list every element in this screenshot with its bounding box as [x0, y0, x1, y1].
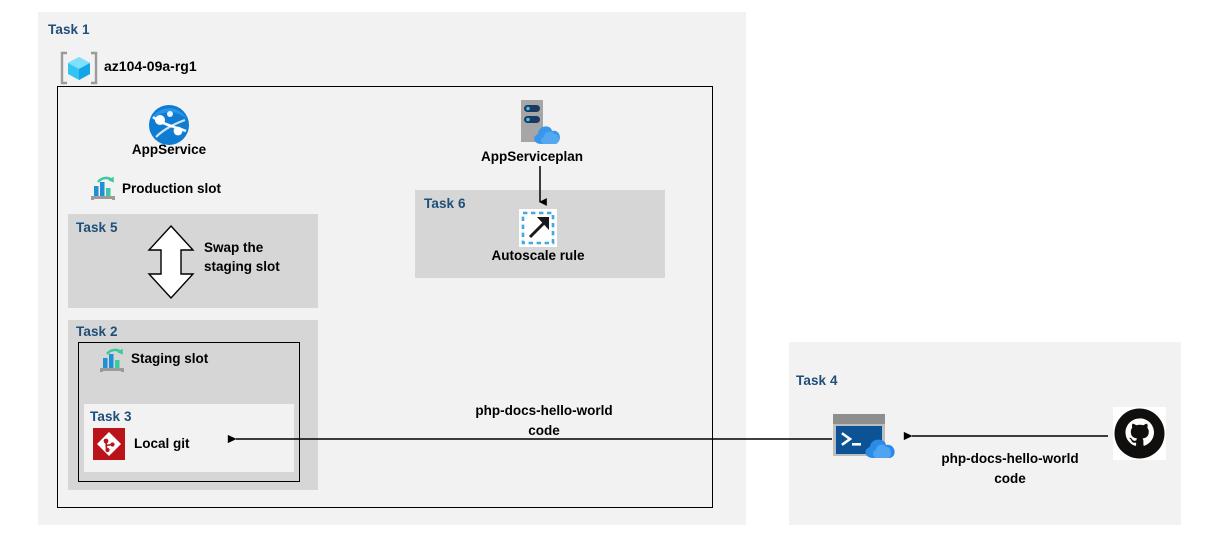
autoscale-rule-label: Autoscale rule — [466, 248, 610, 264]
git-icon — [93, 428, 125, 460]
app-service-label: AppService — [121, 142, 217, 158]
deployment-slot-icon — [98, 348, 126, 374]
local-git-label: Local git — [134, 436, 190, 452]
resource-group-name: az104-09a-rg1 — [104, 58, 197, 74]
task-5-caption: Swap the staging slot — [204, 238, 280, 276]
cloud-shell-icon — [831, 412, 901, 460]
task-3-label: Task 3 — [90, 409, 132, 424]
task-4-label: Task 4 — [796, 373, 838, 388]
connection-caption-center-line-2: code — [528, 423, 560, 438]
connection-caption-center-line-1: php-docs-hello-world — [475, 403, 612, 418]
task-5-caption-line-1: Swap the — [204, 240, 263, 255]
app-service-icon — [148, 104, 190, 146]
production-slot-label: Production slot — [122, 181, 221, 197]
deployment-slot-icon — [89, 176, 117, 202]
resource-group-icon — [60, 50, 98, 86]
autoscale-rule-icon — [519, 209, 557, 247]
app-service-plan-icon — [511, 98, 567, 146]
diagram-canvas: Task 1 az104-09a-rg1 AppService — [0, 0, 1218, 545]
double-arrow-vertical-icon — [145, 224, 197, 300]
staging-slot-label: Staging slot — [131, 351, 208, 367]
app-service-plan-label: AppServiceplan — [458, 149, 606, 165]
task-4-connection-caption: php-docs-hello-world code — [920, 449, 1100, 489]
task-6-label: Task 6 — [424, 196, 466, 211]
connection-caption-center: php-docs-hello-world code — [453, 401, 635, 441]
task-4-connection-caption-line-1: php-docs-hello-world — [941, 451, 1078, 466]
task-2-label: Task 2 — [76, 324, 118, 339]
task-5-caption-line-2: staging slot — [204, 259, 280, 274]
task-1-label: Task 1 — [48, 22, 90, 37]
github-icon — [1113, 407, 1166, 460]
task-4-connection-caption-line-2: code — [994, 471, 1026, 486]
task-5-label: Task 5 — [76, 220, 118, 235]
